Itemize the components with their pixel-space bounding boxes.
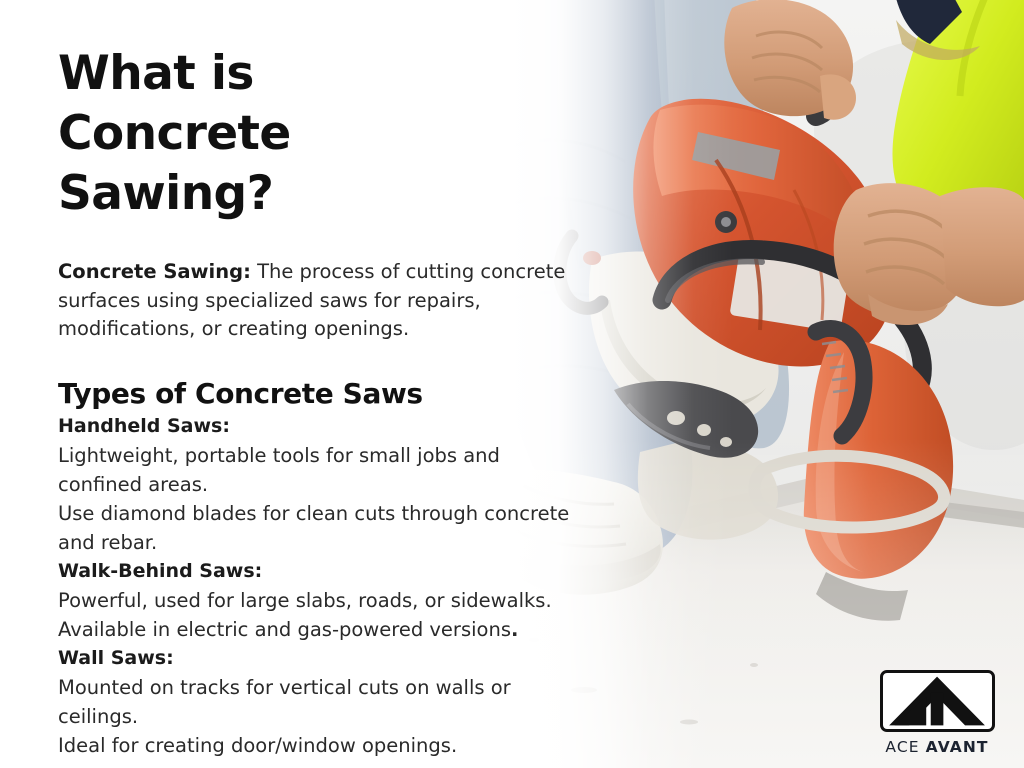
- saw-type-name: Wall Saws:: [58, 644, 598, 673]
- saw-type-line: Available in electric and gas-powered ve…: [58, 615, 578, 644]
- saw-type-name: Walk-Behind Saws:: [58, 557, 598, 586]
- saw-type-line: Use diamond blades for clean cuts throug…: [58, 499, 578, 557]
- slide-root: What is Concrete Sawing? Concrete Sawing…: [0, 0, 1024, 768]
- lead-paragraph: Concrete Sawing: The process of cutting …: [58, 258, 578, 344]
- lead-term: Concrete Sawing:: [58, 260, 251, 283]
- logo-word-ace: ACE: [885, 738, 919, 756]
- triangle-peak-icon: [883, 673, 992, 729]
- saw-types-list: Handheld Saws: Lightweight, portable too…: [58, 412, 598, 760]
- content-column: What is Concrete Sawing? Concrete Sawing…: [58, 0, 598, 768]
- saw-type-line: Lightweight, portable tools for small jo…: [58, 441, 578, 499]
- types-section-heading: Types of Concrete Saws: [58, 378, 598, 410]
- saw-type-line-text: Available in electric and gas-powered ve…: [58, 618, 511, 641]
- page-title: What is Concrete Sawing?: [58, 44, 488, 224]
- saw-type-line: Powerful, used for large slabs, roads, o…: [58, 586, 578, 615]
- saw-type-line: Mounted on tracks for vertical cuts on w…: [58, 673, 578, 731]
- saw-type-wall: Wall Saws: Mounted on tracks for vertica…: [58, 644, 598, 760]
- saw-type-line-period: .: [511, 618, 518, 641]
- saw-type-name: Handheld Saws:: [58, 412, 598, 441]
- ace-avant-logo: ACE AVANT: [872, 670, 1002, 756]
- saw-type-line: Ideal for creating door/window openings.: [58, 731, 578, 760]
- saw-type-walk-behind: Walk-Behind Saws: Powerful, used for lar…: [58, 557, 598, 644]
- ace-avant-wordmark: ACE AVANT: [872, 738, 1002, 756]
- logo-word-avant: AVANT: [926, 738, 989, 756]
- saw-type-handheld: Handheld Saws: Lightweight, portable too…: [58, 412, 598, 557]
- ace-avant-logo-mark: [880, 670, 995, 732]
